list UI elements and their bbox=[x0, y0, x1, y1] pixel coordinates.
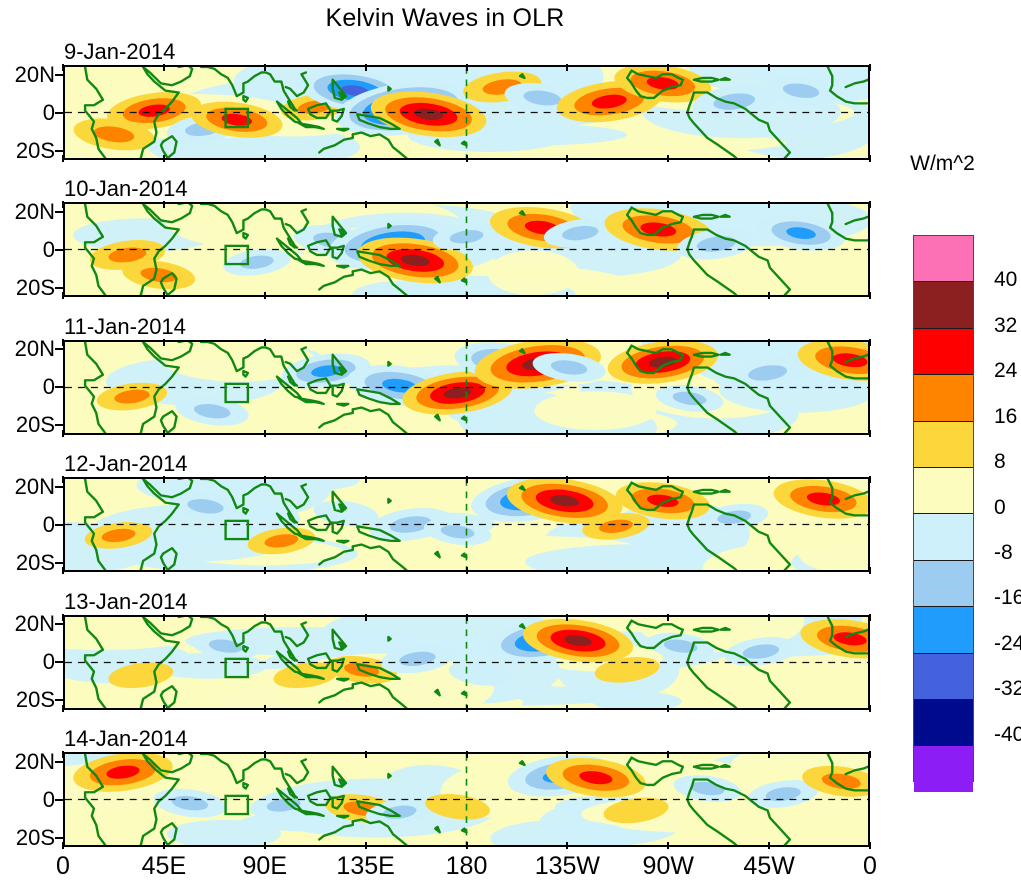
y-tick-label: 20S bbox=[0, 414, 55, 436]
y-tick-mark bbox=[55, 74, 63, 76]
y-tick-label: 0 bbox=[0, 789, 55, 811]
y-tick-label: 20S bbox=[0, 552, 55, 574]
y-tick-mark bbox=[55, 837, 63, 839]
y-tick-label: 0 bbox=[0, 514, 55, 536]
x-tick-mark bbox=[768, 705, 770, 712]
x-tick-mark bbox=[667, 842, 669, 849]
x-tick-mark bbox=[869, 614, 871, 621]
coastline bbox=[337, 541, 348, 543]
coastline bbox=[337, 816, 348, 818]
x-tick-mark bbox=[264, 64, 266, 71]
x-tick-mark bbox=[566, 476, 568, 483]
coastline bbox=[339, 779, 343, 784]
x-tick-mark bbox=[365, 201, 367, 208]
x-tick-mark bbox=[264, 842, 266, 849]
colorbar-tick-label: -8 bbox=[994, 542, 1013, 563]
y-tick-label: 20N bbox=[0, 64, 55, 86]
y-tick-mark bbox=[55, 424, 63, 426]
x-tick-mark bbox=[566, 614, 568, 621]
x-tick-mark bbox=[365, 567, 367, 574]
x-tick-mark bbox=[62, 292, 64, 299]
coastline bbox=[337, 129, 348, 131]
x-tick-label: 0 bbox=[863, 852, 877, 880]
x-tick-mark bbox=[466, 614, 468, 621]
x-tick-mark bbox=[365, 430, 367, 437]
y-tick-mark bbox=[55, 524, 63, 526]
x-tick-mark bbox=[62, 155, 64, 162]
panel-date-label: 14-Jan-2014 bbox=[64, 727, 188, 751]
x-tick-mark bbox=[163, 64, 165, 71]
colorbar bbox=[913, 235, 974, 782]
x-tick-mark bbox=[163, 155, 165, 162]
x-tick-label: 135W bbox=[535, 852, 600, 880]
x-tick-mark bbox=[667, 339, 669, 346]
x-tick-mark bbox=[264, 614, 266, 621]
y-tick-label: 20N bbox=[0, 201, 55, 223]
x-tick-mark bbox=[768, 430, 770, 437]
x-tick-mark bbox=[566, 64, 568, 71]
x-tick-mark bbox=[768, 155, 770, 162]
x-tick-mark bbox=[466, 339, 468, 346]
map-panel[interactable] bbox=[63, 340, 870, 435]
figure-root: Kelvin Waves in OLR 9-Jan-2014Observed20… bbox=[0, 0, 1021, 887]
y-tick-label: 20S bbox=[0, 827, 55, 849]
y-tick-mark bbox=[55, 661, 63, 663]
x-tick-mark bbox=[163, 751, 165, 758]
x-tick-mark bbox=[264, 292, 266, 299]
colorbar-band bbox=[914, 699, 973, 745]
x-tick-mark bbox=[62, 430, 64, 437]
x-tick-mark bbox=[768, 339, 770, 346]
colorbar-tick-label: -32 bbox=[994, 678, 1021, 699]
x-tick-mark bbox=[667, 64, 669, 71]
x-tick-mark bbox=[365, 842, 367, 849]
x-tick-mark bbox=[365, 339, 367, 346]
x-tick-mark bbox=[667, 705, 669, 712]
x-tick-mark bbox=[62, 476, 64, 483]
coastline bbox=[721, 628, 730, 630]
anomaly-field bbox=[65, 479, 868, 570]
x-tick-mark bbox=[163, 705, 165, 712]
coastline bbox=[520, 212, 524, 216]
x-tick-mark bbox=[768, 842, 770, 849]
y-tick-mark bbox=[55, 386, 63, 388]
x-tick-label: 135E bbox=[336, 852, 394, 880]
y-tick-label: 0 bbox=[0, 651, 55, 673]
x-tick-mark bbox=[869, 292, 871, 299]
x-tick-label: 90W bbox=[643, 852, 694, 880]
panel-date-label: 12-Jan-2014 bbox=[64, 452, 188, 476]
y-tick-mark bbox=[55, 562, 63, 564]
colorbar-band bbox=[914, 745, 973, 791]
coastline bbox=[388, 774, 390, 778]
colorbar-tick-label: -24 bbox=[994, 633, 1021, 654]
x-tick-mark bbox=[566, 155, 568, 162]
anomaly-field bbox=[65, 617, 868, 708]
x-tick-mark bbox=[667, 751, 669, 758]
x-tick-mark bbox=[768, 201, 770, 208]
coastline bbox=[388, 87, 390, 91]
coastline bbox=[339, 367, 343, 372]
x-tick-mark bbox=[163, 430, 165, 437]
colorbar-band bbox=[914, 513, 973, 559]
y-tick-label: 20N bbox=[0, 613, 55, 635]
x-tick-mark bbox=[768, 64, 770, 71]
x-tick-mark bbox=[869, 64, 871, 71]
x-tick-mark bbox=[264, 155, 266, 162]
y-tick-mark bbox=[55, 112, 63, 114]
x-tick-mark bbox=[365, 705, 367, 712]
colorbar-tick-label: 40 bbox=[994, 269, 1017, 290]
colorbar-band bbox=[914, 653, 973, 699]
x-tick-mark bbox=[869, 567, 871, 574]
x-tick-mark bbox=[768, 292, 770, 299]
x-tick-label: 45W bbox=[743, 852, 794, 880]
x-tick-mark bbox=[466, 155, 468, 162]
x-tick-mark bbox=[869, 155, 871, 162]
y-tick-label: 0 bbox=[0, 102, 55, 124]
coastline bbox=[520, 761, 524, 765]
coastline bbox=[721, 78, 730, 80]
coastline bbox=[388, 637, 390, 641]
x-tick-label: 90E bbox=[243, 852, 287, 880]
panel-date-label: 11-Jan-2014 bbox=[64, 315, 186, 339]
colorbar-band bbox=[914, 467, 973, 513]
x-tick-mark bbox=[264, 201, 266, 208]
x-tick-mark bbox=[264, 339, 266, 346]
coastline bbox=[721, 353, 730, 355]
x-tick-mark bbox=[365, 64, 367, 71]
colorbar-band bbox=[914, 236, 973, 281]
x-tick-mark bbox=[768, 751, 770, 758]
x-tick-mark bbox=[365, 614, 367, 621]
coastline bbox=[339, 92, 343, 97]
x-tick-mark bbox=[466, 476, 468, 483]
y-tick-mark bbox=[55, 623, 63, 625]
x-tick-mark bbox=[768, 567, 770, 574]
x-tick-mark bbox=[365, 751, 367, 758]
map-panel[interactable] bbox=[63, 477, 870, 572]
colorbar-tick-label: -40 bbox=[994, 724, 1021, 745]
y-tick-mark bbox=[55, 486, 63, 488]
coastline bbox=[721, 765, 730, 767]
y-tick-mark bbox=[55, 150, 63, 152]
x-tick-mark bbox=[466, 751, 468, 758]
x-tick-mark bbox=[869, 430, 871, 437]
x-tick-mark bbox=[163, 292, 165, 299]
x-tick-mark bbox=[62, 201, 64, 208]
x-tick-mark bbox=[667, 430, 669, 437]
x-tick-mark bbox=[163, 201, 165, 208]
x-tick-mark bbox=[566, 842, 568, 849]
x-tick-mark bbox=[466, 64, 468, 71]
colorbar-band bbox=[914, 281, 973, 327]
x-tick-mark bbox=[264, 430, 266, 437]
x-tick-mark bbox=[667, 155, 669, 162]
x-tick-mark bbox=[869, 751, 871, 758]
coastline bbox=[337, 678, 348, 680]
x-tick-label: 0 bbox=[56, 852, 70, 880]
map-panel[interactable] bbox=[63, 65, 870, 160]
x-tick-mark bbox=[163, 842, 165, 849]
x-tick-mark bbox=[667, 614, 669, 621]
map-panel[interactable] bbox=[63, 752, 870, 847]
x-tick-mark bbox=[869, 339, 871, 346]
x-tick-mark bbox=[264, 751, 266, 758]
colorbar-tick-label: 32 bbox=[994, 315, 1017, 336]
y-tick-label: 0 bbox=[0, 376, 55, 398]
coastline bbox=[388, 362, 390, 366]
colorbar-band bbox=[914, 560, 973, 606]
coastline bbox=[339, 230, 343, 235]
x-axis: 045E90E135E180135W90W45W0 bbox=[0, 852, 890, 882]
y-tick-label: 20N bbox=[0, 751, 55, 773]
colorbar-tick-label: 16 bbox=[994, 406, 1017, 427]
colorbar-band bbox=[914, 374, 973, 420]
y-tick-mark bbox=[55, 348, 63, 350]
x-tick-mark bbox=[466, 292, 468, 299]
x-tick-mark bbox=[466, 201, 468, 208]
x-tick-mark bbox=[768, 614, 770, 621]
x-tick-mark bbox=[566, 567, 568, 574]
x-tick-mark bbox=[62, 705, 64, 712]
coastline bbox=[520, 74, 524, 78]
y-tick-mark bbox=[55, 761, 63, 763]
x-tick-label: 180 bbox=[446, 852, 488, 880]
y-tick-mark bbox=[55, 799, 63, 801]
x-tick-mark bbox=[768, 476, 770, 483]
map-panel[interactable] bbox=[63, 202, 870, 297]
x-tick-mark bbox=[264, 567, 266, 574]
y-tick-label: 20S bbox=[0, 277, 55, 299]
x-tick-mark bbox=[466, 842, 468, 849]
x-tick-mark bbox=[62, 614, 64, 621]
colorbar-units-label: W/m^2 bbox=[885, 152, 1000, 176]
y-tick-label: 20N bbox=[0, 338, 55, 360]
y-tick-label: 20S bbox=[0, 140, 55, 162]
anomaly-field bbox=[65, 754, 868, 845]
coastline bbox=[388, 499, 390, 503]
panel-date-label: 9-Jan-2014 bbox=[64, 40, 175, 64]
y-tick-mark bbox=[55, 211, 63, 213]
coastline bbox=[520, 349, 524, 353]
x-tick-mark bbox=[264, 705, 266, 712]
coastline bbox=[520, 486, 524, 490]
coastline bbox=[337, 404, 348, 406]
panel-date-label: 10-Jan-2014 bbox=[64, 177, 188, 201]
x-tick-mark bbox=[466, 705, 468, 712]
x-tick-mark bbox=[62, 567, 64, 574]
y-tick-label: 20N bbox=[0, 476, 55, 498]
x-tick-mark bbox=[365, 476, 367, 483]
anomaly-field bbox=[65, 342, 868, 433]
x-tick-mark bbox=[869, 842, 871, 849]
y-tick-mark bbox=[55, 287, 63, 289]
colorbar-tick-label: 8 bbox=[994, 451, 1006, 472]
anomaly-field bbox=[65, 67, 868, 158]
coastline bbox=[337, 266, 348, 268]
x-tick-mark bbox=[566, 201, 568, 208]
y-tick-label: 0 bbox=[0, 239, 55, 261]
coastline bbox=[339, 505, 343, 510]
colorbar-band bbox=[914, 421, 973, 467]
x-tick-mark bbox=[62, 751, 64, 758]
y-tick-label: 20S bbox=[0, 689, 55, 711]
panel-date-label: 13-Jan-2014 bbox=[64, 590, 188, 614]
x-tick-mark bbox=[566, 751, 568, 758]
x-tick-mark bbox=[466, 567, 468, 574]
x-tick-mark bbox=[869, 476, 871, 483]
x-tick-mark bbox=[869, 201, 871, 208]
x-tick-label: 45E bbox=[142, 852, 186, 880]
x-tick-mark bbox=[566, 339, 568, 346]
y-tick-mark bbox=[55, 699, 63, 701]
colorbar-tick-label: 24 bbox=[994, 360, 1017, 381]
coastline bbox=[520, 624, 524, 628]
coastline bbox=[721, 490, 730, 492]
x-tick-mark bbox=[163, 339, 165, 346]
x-tick-mark bbox=[667, 476, 669, 483]
colorbar-band bbox=[914, 328, 973, 374]
coastline bbox=[388, 224, 390, 228]
coastline bbox=[339, 642, 343, 647]
x-tick-mark bbox=[264, 476, 266, 483]
coastline bbox=[721, 215, 730, 217]
x-tick-mark bbox=[163, 567, 165, 574]
x-tick-mark bbox=[62, 339, 64, 346]
x-tick-mark bbox=[163, 476, 165, 483]
x-tick-mark bbox=[566, 292, 568, 299]
x-tick-mark bbox=[365, 292, 367, 299]
colorbar-band bbox=[914, 606, 973, 652]
x-tick-mark bbox=[62, 842, 64, 849]
anomaly-field bbox=[65, 204, 868, 295]
colorbar-tick-label: -16 bbox=[994, 587, 1021, 608]
y-tick-mark bbox=[55, 249, 63, 251]
x-tick-mark bbox=[869, 705, 871, 712]
x-tick-mark bbox=[466, 430, 468, 437]
figure-title: Kelvin Waves in OLR bbox=[0, 4, 890, 33]
x-tick-mark bbox=[667, 292, 669, 299]
x-tick-mark bbox=[667, 567, 669, 574]
x-tick-mark bbox=[62, 64, 64, 71]
x-tick-mark bbox=[667, 201, 669, 208]
colorbar-tick-label: 0 bbox=[994, 497, 1006, 518]
x-tick-mark bbox=[365, 155, 367, 162]
map-panel[interactable] bbox=[63, 615, 870, 710]
x-tick-mark bbox=[163, 614, 165, 621]
x-tick-mark bbox=[566, 430, 568, 437]
x-tick-mark bbox=[566, 705, 568, 712]
